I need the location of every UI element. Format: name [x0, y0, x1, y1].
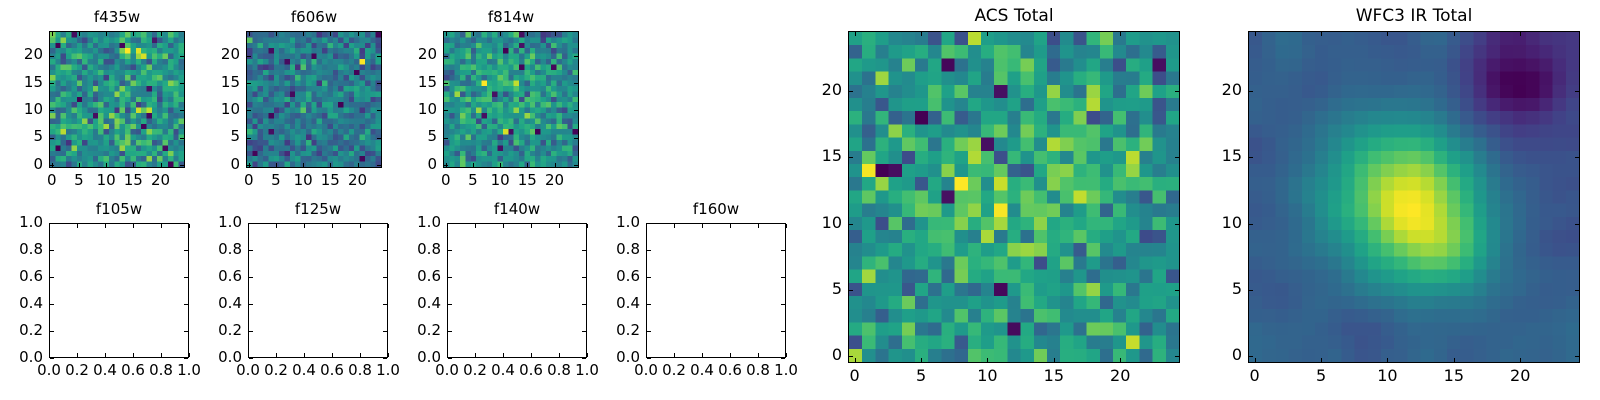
xtick-mark	[1454, 358, 1455, 362]
ytick-mark-right	[1575, 224, 1579, 225]
xtick-mark	[1387, 358, 1388, 362]
axes-frame-wfc3-ir-total	[1248, 31, 1580, 363]
panel-wfc3-ir-total: WFC3 IR Total0510152005101520	[0, 0, 1600, 400]
xtick-label: 0	[1243, 368, 1267, 384]
ytick-mark-right	[1575, 356, 1579, 357]
ytick-mark-right	[1575, 91, 1579, 92]
ytick-mark-right	[1575, 290, 1579, 291]
xtick-mark-top	[1454, 32, 1455, 36]
xtick-mark-top	[1321, 32, 1322, 36]
ytick-label: 20	[1218, 82, 1242, 98]
xtick-mark-top	[1387, 32, 1388, 36]
ytick-label: 5	[1218, 281, 1242, 297]
ytick-mark	[1249, 157, 1253, 158]
ytick-mark	[1249, 290, 1253, 291]
xtick-label: 20	[1508, 368, 1532, 384]
xtick-mark	[1321, 358, 1322, 362]
xtick-label: 10	[1375, 368, 1399, 384]
panel-title-wfc3-ir-total: WFC3 IR Total	[1248, 8, 1580, 25]
xtick-mark-top	[1255, 32, 1256, 36]
ytick-label: 0	[1218, 347, 1242, 363]
ytick-label: 10	[1218, 215, 1242, 231]
ytick-mark	[1249, 91, 1253, 92]
heatmap-wfc3-ir-total	[1249, 32, 1579, 362]
xtick-mark-top	[1520, 32, 1521, 36]
xtick-label: 5	[1309, 368, 1333, 384]
ytick-label: 15	[1218, 148, 1242, 164]
figure-canvas: f435w0510152005101520f606w05101520051015…	[0, 0, 1600, 400]
ytick-mark	[1249, 224, 1253, 225]
xtick-label: 15	[1442, 368, 1466, 384]
xtick-mark	[1520, 358, 1521, 362]
ytick-mark	[1249, 356, 1253, 357]
xtick-mark	[1255, 358, 1256, 362]
ytick-mark-right	[1575, 157, 1579, 158]
